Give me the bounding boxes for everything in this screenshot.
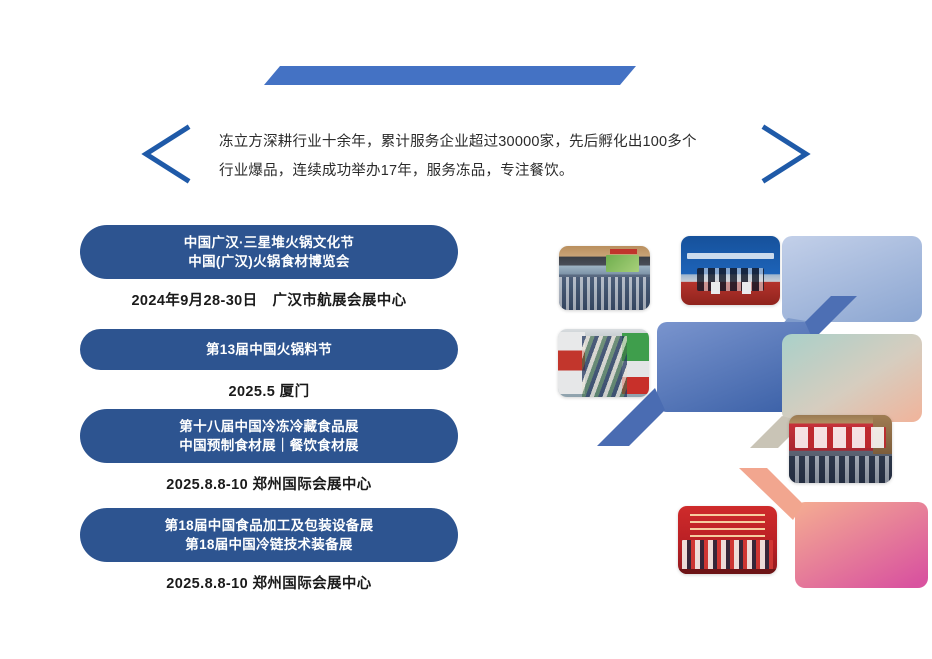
header-accent-bar bbox=[264, 66, 636, 85]
chevron-right-icon[interactable] bbox=[757, 123, 815, 185]
event-pill-1-line-2: 中国(广汉)火锅食材博览会 bbox=[184, 252, 354, 271]
event-pill-2-line-1: 第13届中国火锅料节 bbox=[206, 340, 332, 359]
event-caption-1: 2024年9月28-30日 广汉市航展会展中心 bbox=[80, 289, 458, 310]
photo-red-screen-conference[interactable] bbox=[789, 415, 892, 483]
event-pill-4[interactable]: 第18届中国食品加工及包装设备展 第18届中国冷链技术装备展 bbox=[80, 508, 458, 562]
photo-collage bbox=[545, 222, 917, 594]
event-pill-4-line-1: 第18届中国食品加工及包装设备展 bbox=[165, 516, 374, 535]
event-pill-4-line-2: 第18届中国冷链技术装备展 bbox=[165, 535, 374, 554]
intro-line-2: 行业爆品，连续成功举办17年，服务冻品，专注餐饮。 bbox=[219, 157, 739, 186]
event-pill-1[interactable]: 中国广汉·三星堆火锅文化节 中国(广汉)火锅食材博览会 bbox=[80, 225, 458, 279]
chevron-left-icon[interactable] bbox=[137, 123, 195, 185]
event-pill-3[interactable]: 第十八届中国冷冻冷藏食品展 中国预制食材展｜餐饮食材展 bbox=[80, 409, 458, 463]
event-pill-1-line-1: 中国广汉·三星堆火锅文化节 bbox=[184, 233, 354, 252]
bubble-pink bbox=[793, 486, 928, 596]
photo-expo-aisle-crowd[interactable] bbox=[558, 329, 649, 397]
event-pill-3-line-2: 中国预制食材展｜餐饮食材展 bbox=[179, 436, 358, 455]
event-pill-3-line-1: 第十八届中国冷冻冷藏食品展 bbox=[179, 417, 358, 436]
photo-award-ceremony[interactable] bbox=[678, 506, 777, 574]
photo-conference-hall[interactable] bbox=[559, 246, 650, 310]
event-caption-4: 2025.8.8-10 郑州国际会展中心 bbox=[80, 572, 458, 593]
intro-paragraph: 冻立方深耕行业十余年，累计服务企业超过30000家，先后孵化出100多个 行业爆… bbox=[219, 128, 739, 186]
photo-blue-stage-forum[interactable] bbox=[681, 236, 780, 305]
intro-line-1: 冻立方深耕行业十余年，累计服务企业超过30000家，先后孵化出100多个 bbox=[219, 128, 739, 157]
poster-canvas: 冻立方深耕行业十余年，累计服务企业超过30000家，先后孵化出100多个 行业爆… bbox=[0, 0, 932, 659]
event-pill-2[interactable]: 第13届中国火锅料节 bbox=[80, 329, 458, 370]
event-caption-2: 2025.5 厦门 bbox=[80, 380, 458, 401]
event-caption-3: 2025.8.8-10 郑州国际会展中心 bbox=[80, 473, 458, 494]
